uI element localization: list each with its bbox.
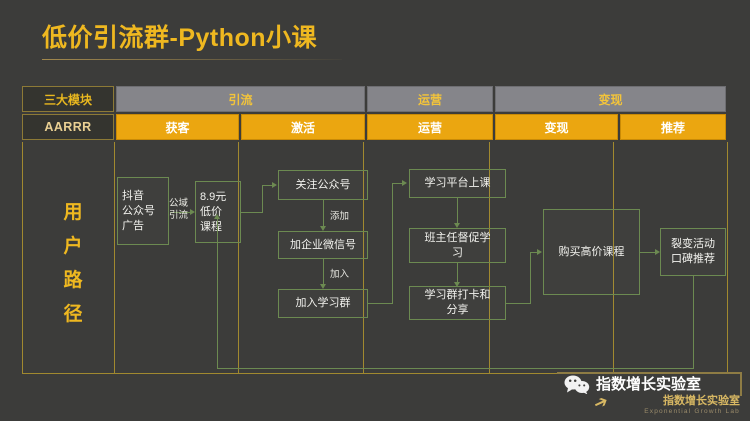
arrow-course-to-follow <box>272 182 277 188</box>
loop-down-from-referral <box>693 276 694 368</box>
watermark-brand-cn: 指数增长实验室 <box>644 395 740 407</box>
row-label-char-4: 径 <box>63 304 82 325</box>
connector-course-riser <box>262 185 263 213</box>
connector-group-riser <box>392 183 393 304</box>
stage-huoke[interactable]: 获客 <box>116 114 239 140</box>
connector-platform-to-teacher <box>457 198 458 226</box>
connector-checkin-out <box>506 303 530 304</box>
connector-label-tianjia: 添加 <box>330 208 349 222</box>
stage-tuijian[interactable]: 推荐 <box>620 114 726 140</box>
loop-back-to-course <box>217 368 694 369</box>
connector-group-out <box>368 303 392 304</box>
flow-box-buy-premium-course[interactable]: 购买高价课程 <box>543 209 640 295</box>
flow-box-douyin-ads[interactable]: 抖音 公众号 广告 <box>117 177 169 245</box>
flow-box-teacher-supervision-line1: 班主任督促学 <box>414 231 501 246</box>
flow-box-group-checkin-share-line2: 分享 <box>414 303 501 318</box>
row-label-user-path: 用 户 路 径 <box>53 196 93 332</box>
flow-box-douyin-ads-line2: 公众号 <box>122 204 164 219</box>
flow-box-teacher-supervision[interactable]: 班主任督促学 习 <box>409 228 506 263</box>
connector-label-jiaru: 加入 <box>330 266 349 280</box>
header-corner-aarrr: AARRR <box>22 114 114 140</box>
row-label-char-1: 用 <box>63 202 82 223</box>
module-group-liuliang: 引流 <box>116 86 365 112</box>
flow-box-fission-referral[interactable]: 裂变活动 口碑推荐 <box>660 228 726 276</box>
flow-box-low-price-course-line3: 课程 <box>200 220 236 235</box>
flow-box-join-study-group[interactable]: 加入学习群 <box>278 289 368 318</box>
arrow-checkin-to-purchase <box>537 249 542 255</box>
connector-wechat-to-group <box>323 259 324 287</box>
loop-up-to-course <box>217 218 218 368</box>
stage-jihuo[interactable]: 激活 <box>241 114 365 140</box>
flow-box-follow-official-account[interactable]: 关注公众号 <box>278 170 368 200</box>
row-label-char-3: 路 <box>63 270 82 291</box>
flow-box-fission-referral-line1: 裂变活动 <box>665 237 721 252</box>
connector-label-yinliu: 引流 <box>169 207 188 221</box>
row-label-char-2: 户 <box>63 236 82 257</box>
flow-box-group-checkin-share-line1: 学习群打卡和 <box>414 288 501 303</box>
flow-box-low-price-course[interactable]: 8.9元 低价 课程 <box>195 181 241 243</box>
arrow-group-to-platform <box>402 180 407 186</box>
stage-bianxian[interactable]: 变现 <box>495 114 618 140</box>
module-header-row: 三大模块 引流 运营 变现 <box>22 86 728 112</box>
watermark: 指数增长实验室 ➔ 指数增长实验室 Exponential Growth Lab <box>546 373 742 417</box>
stage-yunying[interactable]: 运营 <box>367 114 493 140</box>
watermark-top-row: 指数增长实验室 <box>564 373 701 394</box>
flow-box-group-checkin-share[interactable]: 学习群打卡和 分享 <box>409 286 506 320</box>
flow-box-douyin-ads-line3: 广告 <box>122 219 164 234</box>
connector-course-out <box>241 212 262 213</box>
module-group-bianxian: 变现 <box>495 86 726 112</box>
wechat-icon <box>564 374 590 394</box>
slide-canvas: 低价引流群-Python小课 三大模块 引流 运营 变现 AARRR 获客 激活… <box>0 0 750 421</box>
column-divider-2 <box>238 142 239 374</box>
flow-box-fission-referral-line2: 口碑推荐 <box>665 252 721 267</box>
flow-box-teacher-supervision-line2: 习 <box>414 246 501 261</box>
connector-follow-to-wechat <box>323 200 324 229</box>
header-corner-modules: 三大模块 <box>22 86 114 112</box>
page-title: 低价引流群-Python小课 <box>42 18 317 54</box>
aarrr-header-row: AARRR 获客 激活 运营 变现 推荐 <box>22 114 728 140</box>
watermark-brand-top: 指数增长实验室 <box>596 373 701 394</box>
connector-checkin-riser <box>530 252 531 304</box>
flow-box-low-price-course-line1: 8.9元 <box>200 190 236 205</box>
column-divider-1 <box>114 142 115 374</box>
flow-box-platform-class[interactable]: 学习平台上课 <box>409 169 506 198</box>
arrow-loop-into-course <box>214 214 220 219</box>
flow-box-add-enterprise-wechat[interactable]: 加企业微信号 <box>278 231 368 259</box>
title-underline-rule <box>42 59 342 60</box>
watermark-bottom-row: 指数增长实验室 Exponential Growth Lab <box>644 395 740 417</box>
flow-box-douyin-ads-line1: 抖音 <box>122 189 164 204</box>
module-group-yunying: 运营 <box>367 86 493 112</box>
watermark-brand-en: Exponential Growth Lab <box>644 407 740 417</box>
